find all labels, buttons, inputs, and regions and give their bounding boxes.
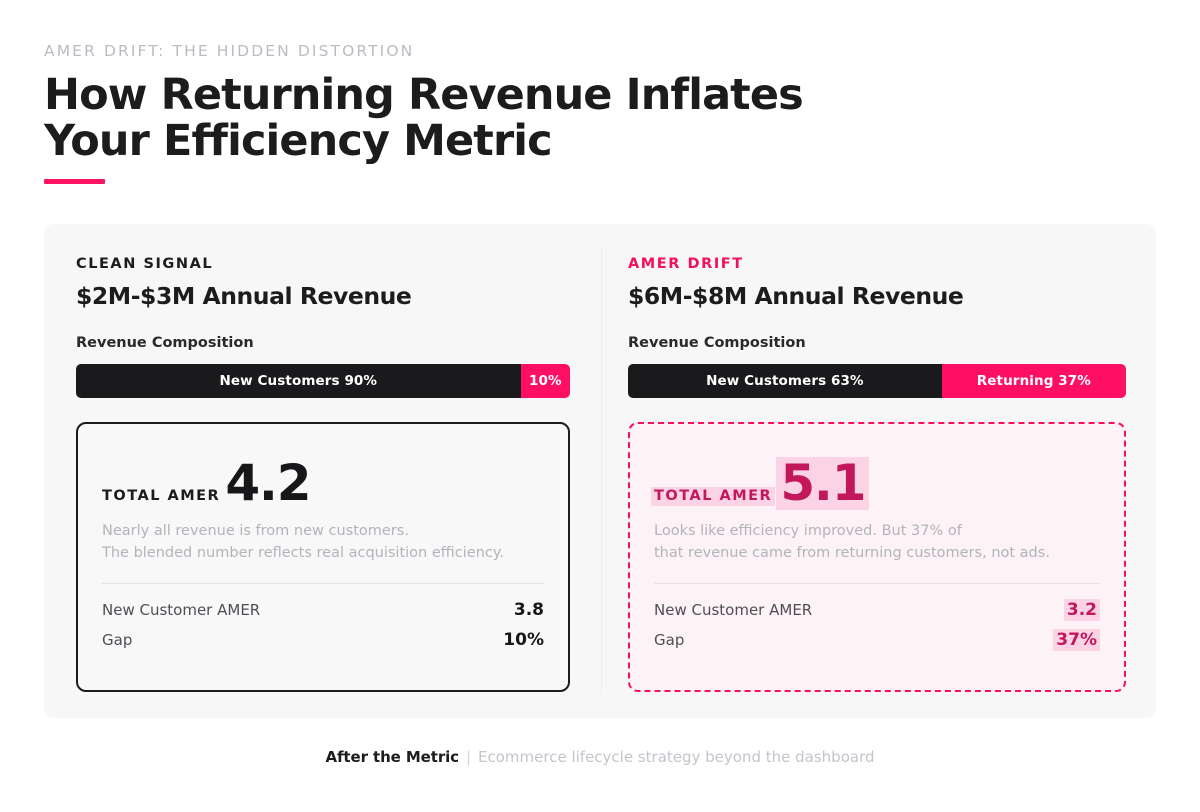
metric-note-left-line-2: The blended number reflects real acquisi…	[102, 542, 544, 564]
stat-value: 37%	[1053, 629, 1100, 651]
revenue-composition-bar-left: New Customers 90% 10%	[76, 364, 570, 398]
bar-segment-returning-left: 10%	[521, 364, 570, 398]
header-eyebrow: AMER DRIFT: THE HIDDEN DISTORTION	[44, 42, 1044, 61]
metric-card-clean-signal: TOTAL AMER 4.2 Nearly all revenue is fro…	[76, 422, 570, 692]
composition-label-right: Revenue Composition	[628, 335, 1126, 352]
stat-key: New Customer AMER	[102, 600, 260, 620]
metric-card-divider-right	[654, 583, 1100, 584]
panel-column-amer-drift: AMER DRIFT $6M-$8M Annual Revenue Revenu…	[600, 224, 1156, 718]
footer-tagline: Ecommerce lifecycle strategy beyond the …	[478, 748, 874, 766]
metric-stat-list-left: New Customer AMER 3.8 Gap 10%	[102, 595, 544, 655]
footer-separator: |	[459, 748, 478, 766]
panel-column-clean-signal: CLEAN SIGNAL $2M-$3M Annual Revenue Reve…	[44, 224, 600, 718]
stat-row-gap-right: Gap 37%	[654, 625, 1100, 655]
page-title: How Returning Revenue Inflates Your Effi…	[44, 72, 1044, 165]
metric-stat-list-right: New Customer AMER 3.2 Gap 37%	[654, 595, 1100, 655]
revenue-composition-bar-right: New Customers 63% Returning 37%	[628, 364, 1126, 398]
stat-value: 10%	[503, 629, 544, 651]
column-eyebrow-clean-signal: CLEAN SIGNAL	[76, 256, 570, 273]
stat-row-new-customer-amer-left: New Customer AMER 3.8	[102, 595, 544, 625]
stat-row-gap-left: Gap 10%	[102, 625, 544, 655]
metric-note-right-line-2: that revenue came from returning custome…	[654, 542, 1100, 564]
headline-line-2: Your Efficiency Metric	[44, 118, 1044, 165]
stat-key: Gap	[654, 630, 684, 650]
bar-segment-new-customers-right: New Customers 63%	[628, 364, 942, 398]
stat-key: New Customer AMER	[654, 600, 812, 620]
stat-value: 3.8	[514, 599, 544, 621]
headline-line-1: How Returning Revenue Inflates	[44, 70, 803, 120]
metric-value-right: 5.1	[776, 457, 869, 510]
metric-card-amer-drift: TOTAL AMER 5.1 Looks like efficiency imp…	[628, 422, 1126, 692]
bar-segment-new-customers-left: New Customers 90%	[76, 364, 521, 398]
metric-card-divider-left	[102, 583, 544, 584]
infographic-page: AMER DRIFT: THE HIDDEN DISTORTION How Re…	[0, 0, 1200, 812]
column-title-clean-signal: $2M-$3M Annual Revenue	[76, 282, 570, 310]
stat-row-new-customer-amer-right: New Customer AMER 3.2	[654, 595, 1100, 625]
metric-note-left-line-1: Nearly all revenue is from new customers…	[102, 523, 409, 539]
comparison-panel: CLEAN SIGNAL $2M-$3M Annual Revenue Reve…	[44, 224, 1156, 718]
metric-card-label-right: TOTAL AMER	[651, 487, 775, 506]
accent-rule	[44, 179, 105, 184]
page-header: AMER DRIFT: THE HIDDEN DISTORTION How Re…	[44, 42, 1044, 165]
stat-value: 3.2	[1064, 599, 1100, 621]
metric-note-right: Looks like efficiency improved. But 37% …	[654, 520, 1100, 564]
footer-brand: After the Metric	[326, 748, 459, 766]
metric-note-left: Nearly all revenue is from new customers…	[102, 520, 544, 564]
metric-card-label-left: TOTAL AMER	[102, 488, 220, 505]
bar-segment-returning-right: Returning 37%	[942, 364, 1126, 398]
metric-note-right-line-1: Looks like efficiency improved. But 37% …	[654, 523, 962, 539]
composition-label-left: Revenue Composition	[76, 335, 570, 352]
metric-value-left: 4.2	[225, 457, 310, 510]
page-footer: After the Metric|Ecommerce lifecycle str…	[0, 747, 1200, 766]
stat-key: Gap	[102, 630, 132, 650]
column-title-amer-drift: $6M-$8M Annual Revenue	[628, 282, 1126, 310]
column-eyebrow-amer-drift: AMER DRIFT	[628, 256, 1126, 273]
